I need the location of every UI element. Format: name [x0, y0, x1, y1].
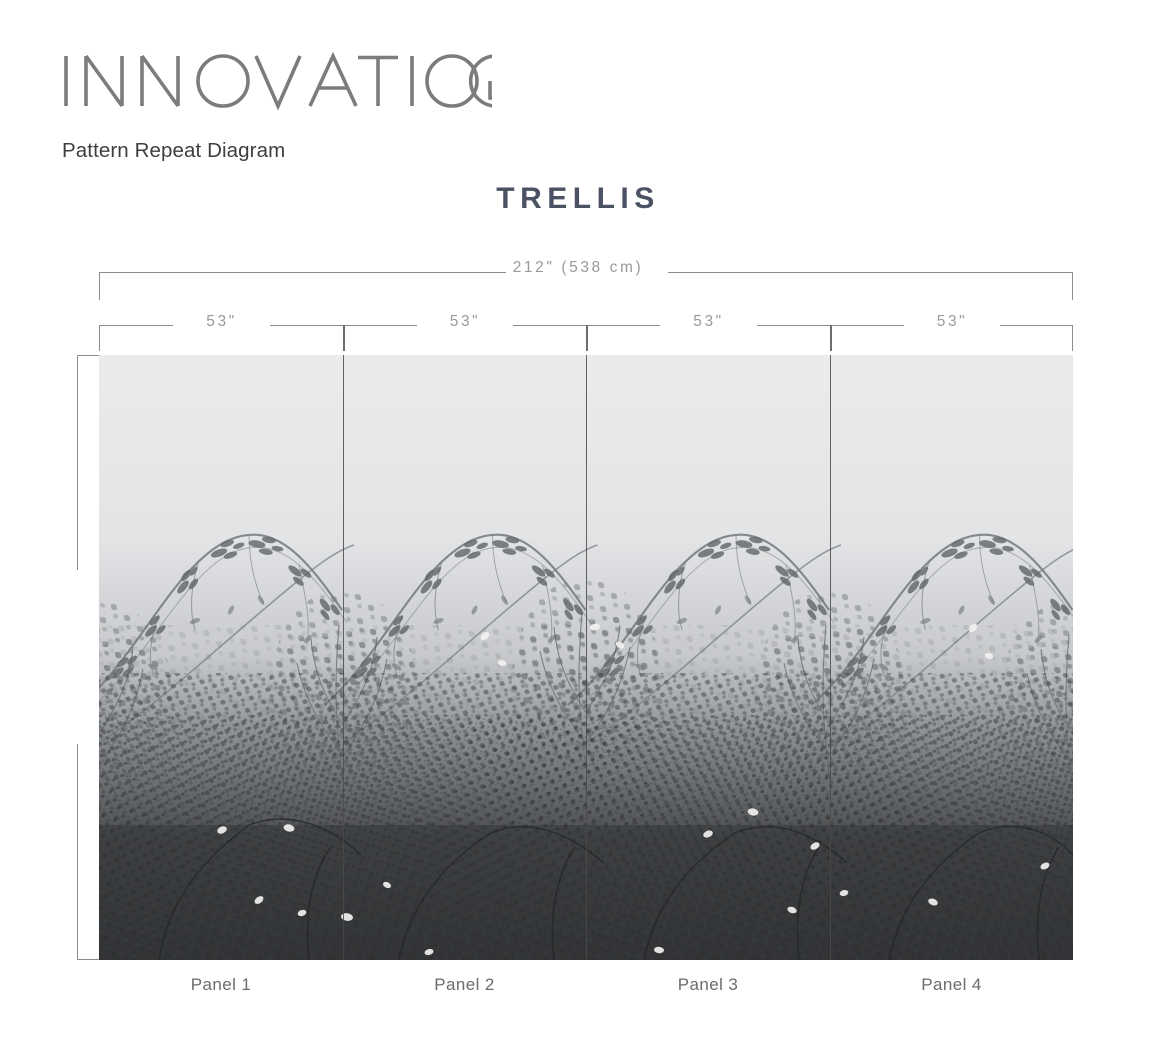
panel-caption-2: Panel 2 [343, 975, 586, 995]
panel-width-label-4: 53" [904, 313, 1000, 331]
panel-dim-tick-2 [586, 325, 588, 351]
panel-dim-tick-3 [830, 325, 832, 351]
panel-dim-line-4a [830, 325, 904, 326]
panel-dim-line-3b [757, 325, 830, 326]
height-dim-tick-top [77, 355, 99, 356]
panel-divider-2 [586, 355, 587, 960]
panel-dim-line-2b [513, 325, 586, 326]
panel-caption-4: Panel 4 [830, 975, 1073, 995]
panel-dim-tick-end [1072, 325, 1073, 351]
panel-width-label-2: 53" [417, 313, 513, 331]
panel-dim-line-1b [270, 325, 343, 326]
panel-dim-tick-1 [343, 325, 345, 351]
panel-divider-1 [343, 355, 344, 960]
panel-dim-line-4b [1000, 325, 1073, 326]
height-dim-line-top [77, 355, 78, 570]
height-dim-line-bottom [77, 744, 78, 960]
panel-dim-line-3a [586, 325, 660, 326]
panel-width-label-3: 53" [660, 313, 757, 331]
panel-caption-3: Panel 3 [586, 975, 830, 995]
pattern-repeat-diagram: 212" (538 cm) 53" 53" 53" 53" 132" (335 … [0, 0, 1156, 1051]
panel-divider-3 [830, 355, 831, 960]
height-dim-tick-bottom [77, 959, 99, 960]
panel-caption-1: Panel 1 [99, 975, 343, 995]
panel-dim-tick-start [99, 325, 100, 351]
total-width-label: 212" (538 cm) [0, 259, 1156, 277]
panel-width-label-1: 53" [173, 313, 270, 331]
panel-dim-line-2a [343, 325, 417, 326]
panel-dim-line-1a [99, 325, 173, 326]
